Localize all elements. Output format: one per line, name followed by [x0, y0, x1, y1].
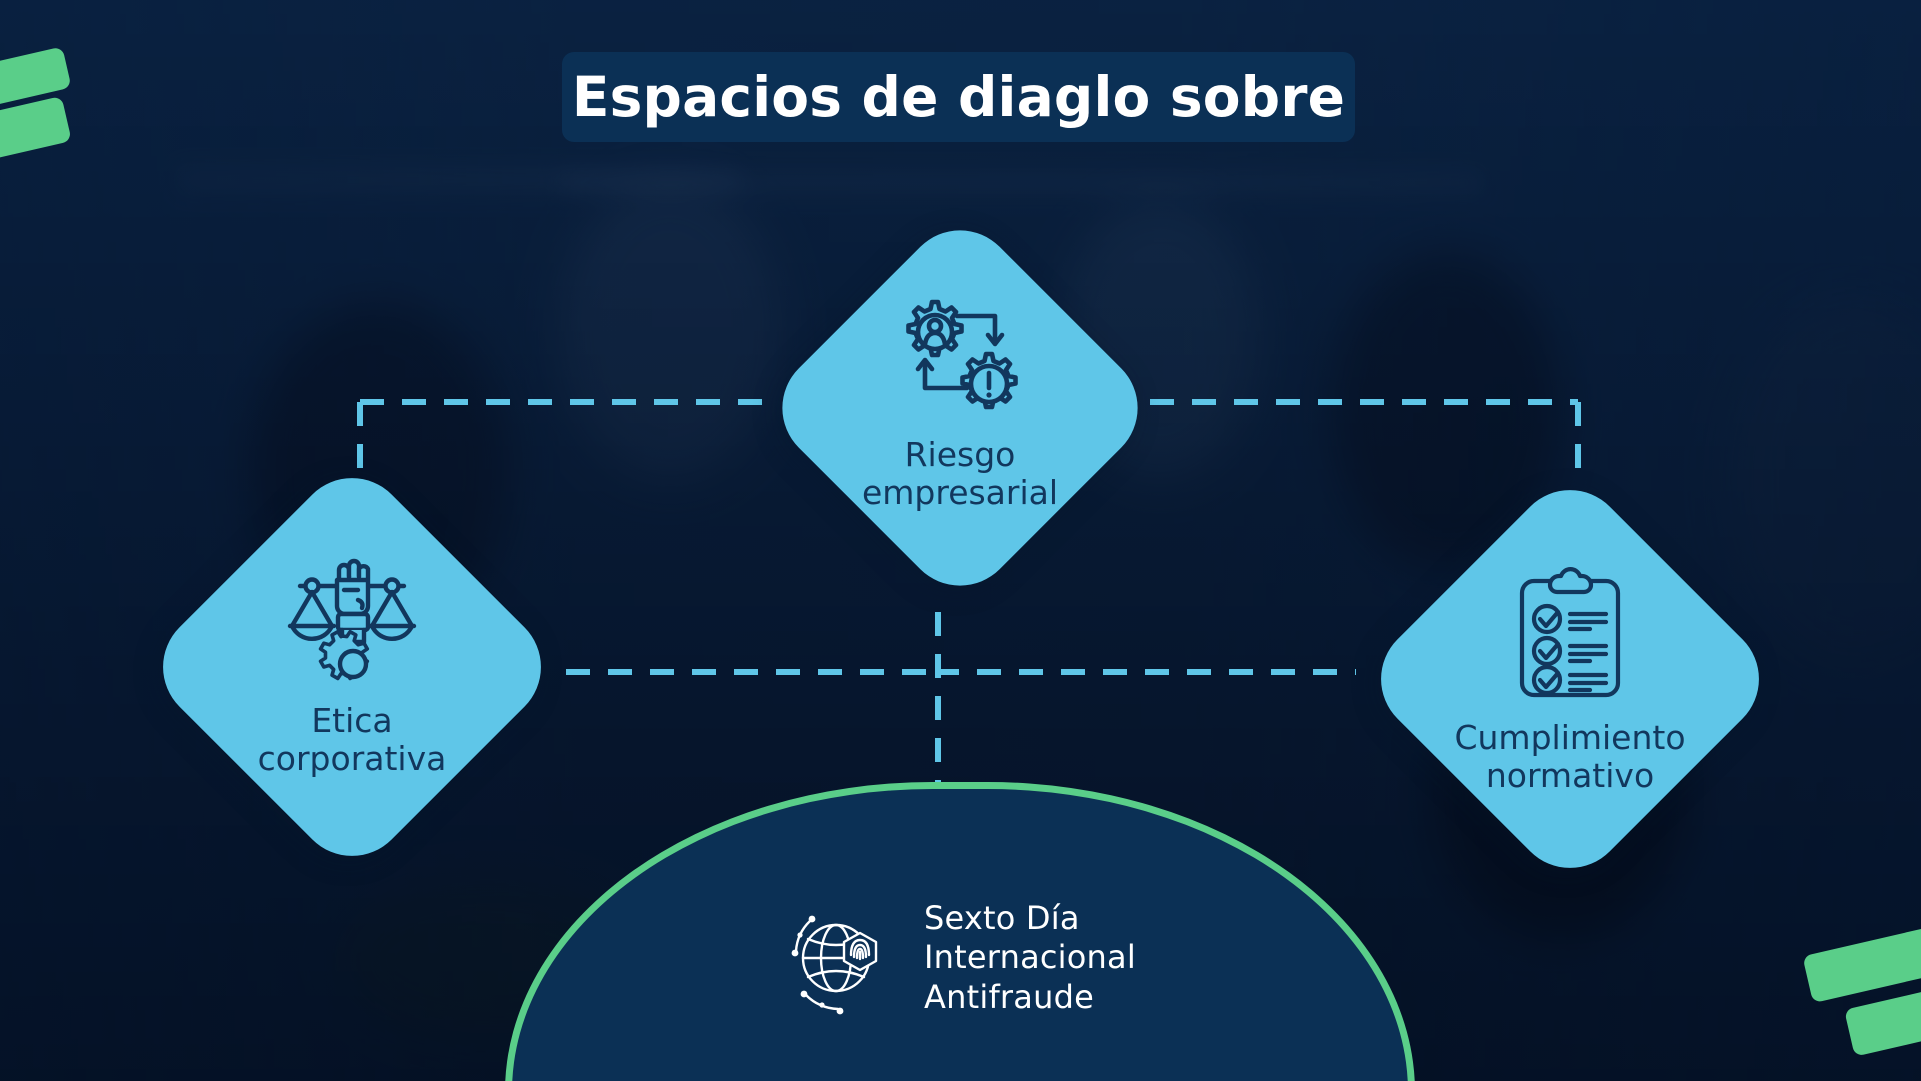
node-label-right: Cumplimiento normativo	[1454, 719, 1685, 796]
node-label-left-line1: Etica	[258, 702, 447, 740]
node-label-left: Etica corporativa	[258, 702, 447, 779]
brand-logo: Sexto Día Internacional Antifraude	[512, 899, 1408, 1017]
logo-line-2: Internacional	[924, 938, 1136, 977]
gears-person-alert-icon	[891, 296, 1029, 420]
node-label-left-line2: corporativa	[258, 740, 447, 778]
node-content-right: Cumplimiento normativo	[1358, 467, 1782, 891]
node-label-center-line1: Riesgo	[862, 436, 1058, 474]
node-content-left: Etica corporativa	[140, 455, 564, 879]
node-cumplimiento-normativo[interactable]: Cumplimiento normativo	[1358, 467, 1782, 891]
logo-line-3: Antifraude	[924, 978, 1136, 1017]
globe-fingerprint-icon	[784, 899, 902, 1017]
node-label-right-line1: Cumplimiento	[1454, 719, 1685, 757]
clipboard-checklist-icon	[1510, 563, 1630, 703]
node-etica-corporativa[interactable]: Etica corporativa	[140, 455, 564, 879]
node-content-center: Riesgo empresarial	[760, 208, 1160, 608]
page-title-banner: Espacios de diaglo sobre	[562, 52, 1355, 142]
infographic-canvas: Etica corporativa	[0, 0, 1921, 1081]
scales-fist-gear-icon	[282, 556, 422, 686]
logo-line-1: Sexto Día	[924, 899, 1136, 938]
node-label-center: Riesgo empresarial	[862, 436, 1058, 513]
node-riesgo-empresarial[interactable]: Riesgo empresarial	[760, 208, 1160, 608]
node-label-center-line2: empresarial	[862, 474, 1058, 512]
brand-logo-text: Sexto Día Internacional Antifraude	[924, 899, 1136, 1016]
node-label-right-line2: normativo	[1454, 757, 1685, 795]
page-title: Espacios de diaglo sobre	[572, 65, 1345, 129]
